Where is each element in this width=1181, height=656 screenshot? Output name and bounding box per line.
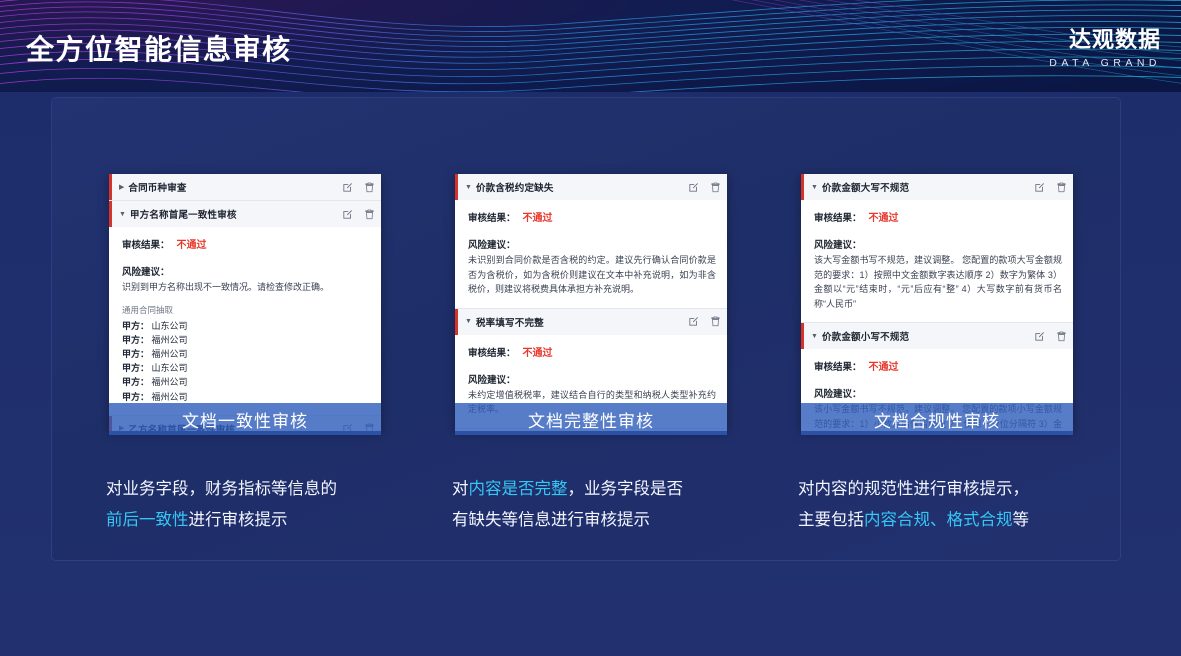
edit-icon[interactable] (688, 182, 699, 193)
caption-line-2: 主要包括内容合规、格式合规等 (798, 505, 1108, 536)
block-actions (688, 316, 721, 327)
kv-value: 福州公司 (152, 392, 188, 402)
caption-line-1: 对业务字段，财务指标等信息的 (106, 474, 416, 505)
caret-down-icon[interactable]: ▼ (465, 184, 472, 191)
caption-completeness: 对内容是否完整，业务字段是否 有缺失等信息进行审核提示 (452, 474, 762, 535)
kv-value: 福州公司 (152, 349, 188, 359)
trash-icon[interactable] (1056, 331, 1067, 342)
caption-line-1: 对内容是否完整，业务字段是否 (452, 474, 762, 505)
trash-icon[interactable] (710, 182, 721, 193)
logo-english: DATA GRAND (1049, 57, 1161, 69)
page-title: 全方位智能信息审核 (26, 28, 292, 68)
caption-highlight: 前后一致性 (106, 511, 189, 529)
kv-key: 甲方： (122, 377, 149, 387)
edit-icon[interactable] (1034, 331, 1045, 342)
advice-label: 风险建议： (814, 237, 1062, 251)
caption-compliance: 对内容的规范性进行审核提示， 主要包括内容合规、格式合规等 (798, 474, 1108, 535)
card-overlay-label-consistency: 文档一致性审核 (109, 403, 381, 435)
list-item: 甲方： 山东公司 (122, 361, 370, 375)
result-label: 审核结果： (468, 345, 516, 359)
review-block-header[interactable]: ▼ 价款金额大写不规范 (801, 174, 1073, 200)
review-block[interactable]: ▼ 价款含税约定缺失 审核结果： 不通过 风险建议： 未识别到合同价款是否含税的… (455, 174, 727, 309)
review-block-body: 审核结果： 不通过 风险建议： 未识别到合同价款是否含税的约定。建议先行确认合同… (455, 200, 727, 308)
caption-text: 等 (1013, 511, 1030, 529)
caption-text: 对业务字段，财务指标等信息的 (106, 480, 337, 498)
result-label: 审核结果： (468, 210, 516, 224)
review-block-title: 价款金额大写不规范 (822, 180, 909, 194)
caret-down-icon[interactable]: ▼ (811, 184, 818, 191)
overlay-title: 文档合规性审核 (874, 407, 1000, 432)
kv-value: 山东公司 (152, 321, 188, 331)
edit-icon[interactable] (342, 182, 353, 193)
review-block-header[interactable]: ▼ 价款含税约定缺失 (455, 174, 727, 200)
status-badge: 不通过 (523, 344, 553, 359)
advice-label: 风险建议： (814, 386, 1062, 400)
review-block-header[interactable]: ▶ 合同币种审查 (109, 174, 381, 200)
review-block-title: 价款含税约定缺失 (476, 180, 554, 194)
caption-text: 主要包括 (798, 511, 864, 529)
kv-key: 甲方： (122, 321, 149, 331)
edit-icon[interactable] (1034, 182, 1045, 193)
review-block-title: 价款金额小写不规范 (822, 329, 909, 343)
list-item: 甲方： 福州公司 (122, 347, 370, 361)
advice-label: 风险建议： (468, 372, 716, 386)
review-card-consistency: ▶ 合同币种审查 ▼ 甲方名称首尾一致性审核 审核结果： 不通过 风险建议： 识… (109, 174, 381, 431)
logo-chinese: 达观数据 (1049, 22, 1161, 54)
status-badge: 不通过 (177, 236, 207, 251)
advice-text: 识别到甲方名称出现不一致情况。请检查修改正确。 (122, 280, 370, 295)
result-label: 审核结果： (814, 210, 862, 224)
review-result-row: 审核结果： 不通过 (468, 344, 716, 359)
review-result-row: 审核结果： 不通过 (122, 236, 370, 251)
overlay-title: 文档完整性审核 (528, 407, 654, 432)
kv-value: 福州公司 (152, 335, 188, 345)
list-item: 甲方： 福州公司 (122, 333, 370, 347)
status-badge: 不通过 (523, 209, 553, 224)
caption-line-2: 有缺失等信息进行审核提示 (452, 505, 762, 536)
block-actions (1034, 331, 1067, 342)
trash-icon[interactable] (1056, 182, 1067, 193)
trash-icon[interactable] (364, 182, 375, 193)
caption-text: 对 (452, 480, 469, 498)
review-block-header[interactable]: ▼ 价款金额小写不规范 (801, 323, 1073, 349)
caret-down-icon[interactable]: ▼ (465, 318, 472, 325)
card-overlay-label-compliance: 文档合规性审核 (801, 403, 1073, 435)
kv-key: 甲方： (122, 335, 149, 345)
caret-down-icon[interactable]: ▼ (811, 333, 818, 340)
review-card-completeness: ▼ 价款含税约定缺失 审核结果： 不通过 风险建议： 未识别到合同价款是否含税的… (455, 174, 727, 431)
kv-key: 甲方： (122, 392, 149, 402)
card-overlay-label-completeness: 文档完整性审核 (455, 403, 727, 435)
review-block-body: 审核结果： 不通过 风险建议： 该大写金额书写不规范，建议调整。 您配置的款项大… (801, 200, 1073, 322)
caption-line-1: 对内容的规范性进行审核提示， (798, 474, 1108, 505)
extract-section-title: 通用合同抽取 (122, 304, 370, 316)
caption-line-2: 前后一致性进行审核提示 (106, 505, 416, 536)
kv-value: 福州公司 (152, 377, 188, 387)
list-item: 甲方： 福州公司 (122, 375, 370, 389)
review-result-row: 审核结果： 不通过 (814, 358, 1062, 373)
caption-consistency: 对业务字段，财务指标等信息的 前后一致性进行审核提示 (106, 474, 416, 535)
review-block-title: 甲方名称首尾一致性审核 (130, 207, 237, 221)
caret-right-icon[interactable]: ▶ (119, 184, 124, 191)
status-badge: 不通过 (869, 358, 899, 373)
edit-icon[interactable] (342, 209, 353, 220)
kv-key: 甲方： (122, 349, 149, 359)
review-block[interactable]: ▼ 甲方名称首尾一致性审核 审核结果： 不通过 风险建议： 识别到甲方名称出现不… (109, 201, 381, 416)
review-block-header[interactable]: ▼ 税率填写不完整 (455, 309, 727, 335)
advice-label: 风险建议： (122, 264, 370, 278)
brand-logo: 达观数据 DATA GRAND (1049, 22, 1161, 69)
block-actions (1034, 182, 1067, 193)
review-result-row: 审核结果： 不通过 (468, 209, 716, 224)
block-actions (342, 209, 375, 220)
review-block-title: 税率填写不完整 (476, 315, 544, 329)
result-label: 审核结果： (122, 237, 170, 251)
edit-icon[interactable] (688, 316, 699, 327)
kv-key: 甲方： (122, 363, 149, 373)
review-block-header[interactable]: ▼ 甲方名称首尾一致性审核 (109, 201, 381, 227)
caption-text: 有缺失等信息进行审核提示 (452, 511, 650, 529)
review-card-compliance: ▼ 价款金额大写不规范 审核结果： 不通过 风险建议： 该大写金额书写不规范，建… (801, 174, 1073, 431)
caption-text: 进行审核提示 (189, 511, 288, 529)
caption-text: ，业务字段是否 (568, 480, 684, 498)
overlay-title: 文档一致性审核 (182, 407, 308, 432)
list-item: 甲方： 山东公司 (122, 319, 370, 333)
status-badge: 不通过 (869, 209, 899, 224)
review-block[interactable]: ▶ 合同币种审查 (109, 174, 381, 201)
review-result-row: 审核结果： 不通过 (814, 209, 1062, 224)
caption-text: 对内容的规范性进行审核提示， (798, 480, 1029, 498)
trash-icon[interactable] (710, 316, 721, 327)
kv-value: 山东公司 (152, 363, 188, 373)
review-block-title: 合同币种审查 (128, 180, 186, 194)
result-label: 审核结果： (814, 359, 862, 373)
review-block[interactable]: ▼ 价款金额大写不规范 审核结果： 不通过 风险建议： 该大写金额书写不规范，建… (801, 174, 1073, 323)
advice-text: 未识别到合同价款是否含税的约定。建议先行确认合同价款是否为含税价，如为含税价则建… (468, 253, 716, 297)
advice-label: 风险建议： (468, 237, 716, 251)
block-actions (688, 182, 721, 193)
trash-icon[interactable] (364, 209, 375, 220)
block-actions (342, 182, 375, 193)
list-item: 甲方： 福州公司 (122, 390, 370, 404)
review-block-body: 审核结果： 不通过 风险建议： 识别到甲方名称出现不一致情况。请检查修改正确。 … (109, 227, 381, 415)
advice-text: 该大写金额书写不规范，建议调整。 您配置的款项大写金额规范的要求：1）按照中文金… (814, 253, 1062, 311)
caption-highlight: 内容合规、格式合规 (864, 511, 1013, 529)
caption-highlight: 内容是否完整 (469, 480, 568, 498)
caret-down-icon[interactable]: ▼ (119, 211, 126, 218)
